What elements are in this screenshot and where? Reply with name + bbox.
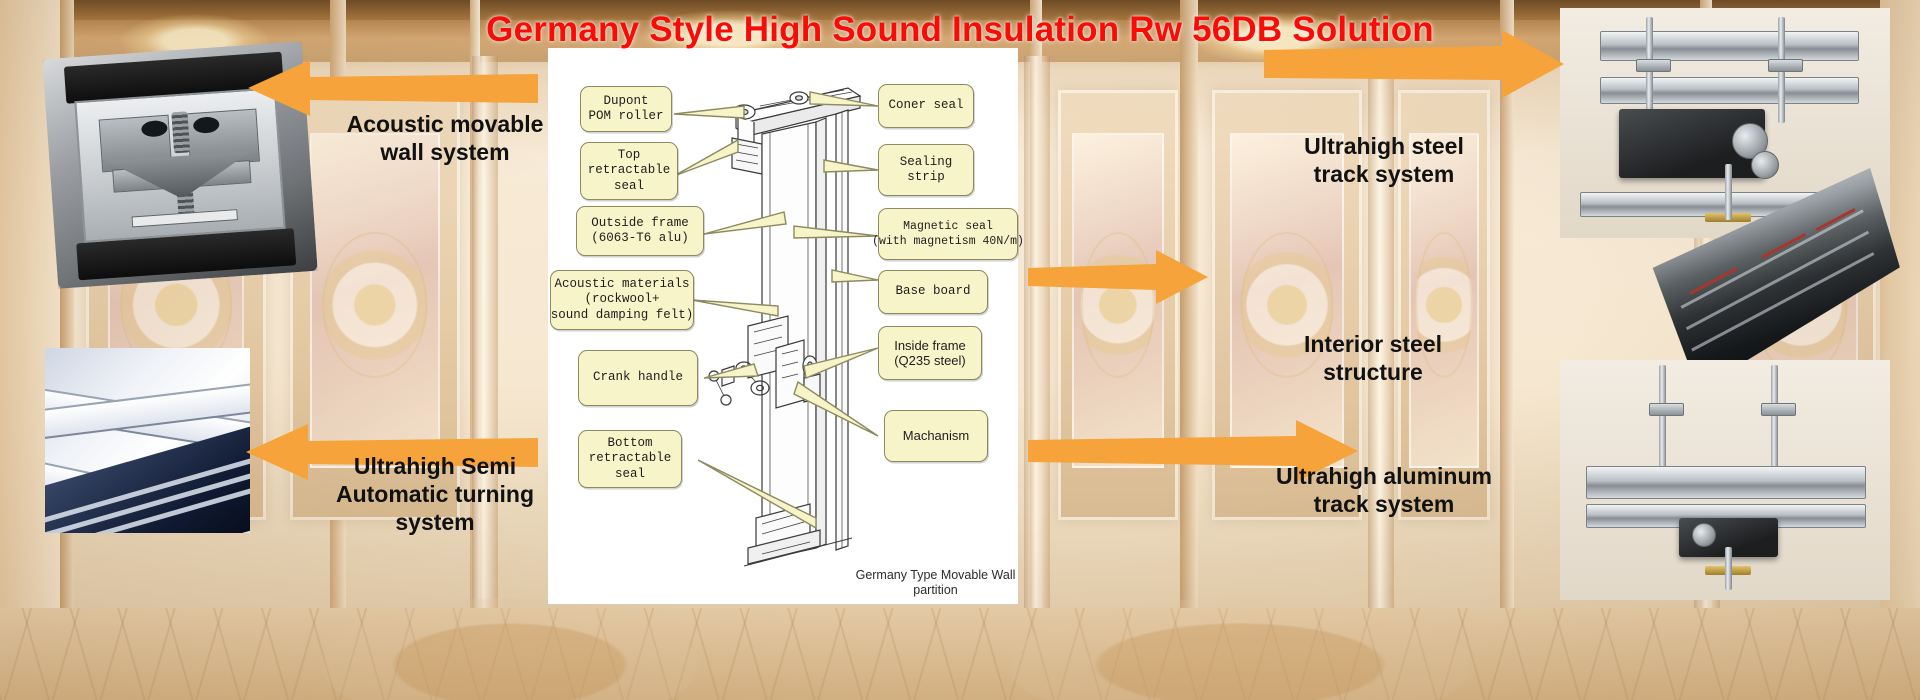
caption-ultrahigh-steel-track-system: Ultrahigh steel track system <box>1264 132 1504 188</box>
diagram-label-outside-frame: Outside frame (6063-T6 alu) <box>576 206 704 256</box>
page-title: Germany Style High Sound Insulation Rw 5… <box>0 10 1920 50</box>
diagram-label-crank-handle: Crank handle <box>578 350 698 406</box>
movable-wall-section-diagram: Dupont POM roller Top retractable seal O… <box>548 48 1018 604</box>
diagram-label-acoustic-materials: Acoustic materials (rockwool+ sound damp… <box>550 270 694 330</box>
diagram-label-dupont-pom-roller: Dupont POM roller <box>580 86 672 132</box>
diagram-label-bottom-retractable-seal: Bottom retractable seal <box>578 430 682 488</box>
arrow-left-top <box>248 58 538 118</box>
diagram-caption: Germany Type Movable Wall partition <box>848 568 1023 598</box>
diagram-label-machanism: Machanism <box>884 410 988 462</box>
diagram-label-sealing-strip: Sealing strip <box>878 144 974 196</box>
semi-automatic-turning-system-photo <box>45 348 250 533</box>
diagram-label-top-retractable-seal: Top retractable seal <box>580 142 678 200</box>
arrow-right-middle <box>1028 248 1208 306</box>
diagram-label-inside-frame: Inside frame (Q235 steel) <box>878 326 982 380</box>
diagram-label-coner-seal: Coner seal <box>878 84 974 128</box>
diagram-label-base-board: Base board <box>878 270 988 314</box>
caption-interior-steel-structure: Interior steel structure <box>1258 330 1488 386</box>
caption-ultrahigh-semi-automatic-turning-system: Ultrahigh Semi Automatic turning system <box>300 452 570 536</box>
diagram-label-magnetic-seal: Magnetic seal (with magnetism 40N/m) <box>878 208 1018 260</box>
caption-acoustic-movable-wall-system: Acoustic movable wall system <box>320 110 570 166</box>
ultrahigh-aluminum-track-photo <box>1560 360 1890 600</box>
caption-ultrahigh-aluminum-track-system: Ultrahigh aluminum track system <box>1244 462 1524 518</box>
poster-canvas: Germany Style High Sound Insulation Rw 5… <box>0 0 1920 700</box>
